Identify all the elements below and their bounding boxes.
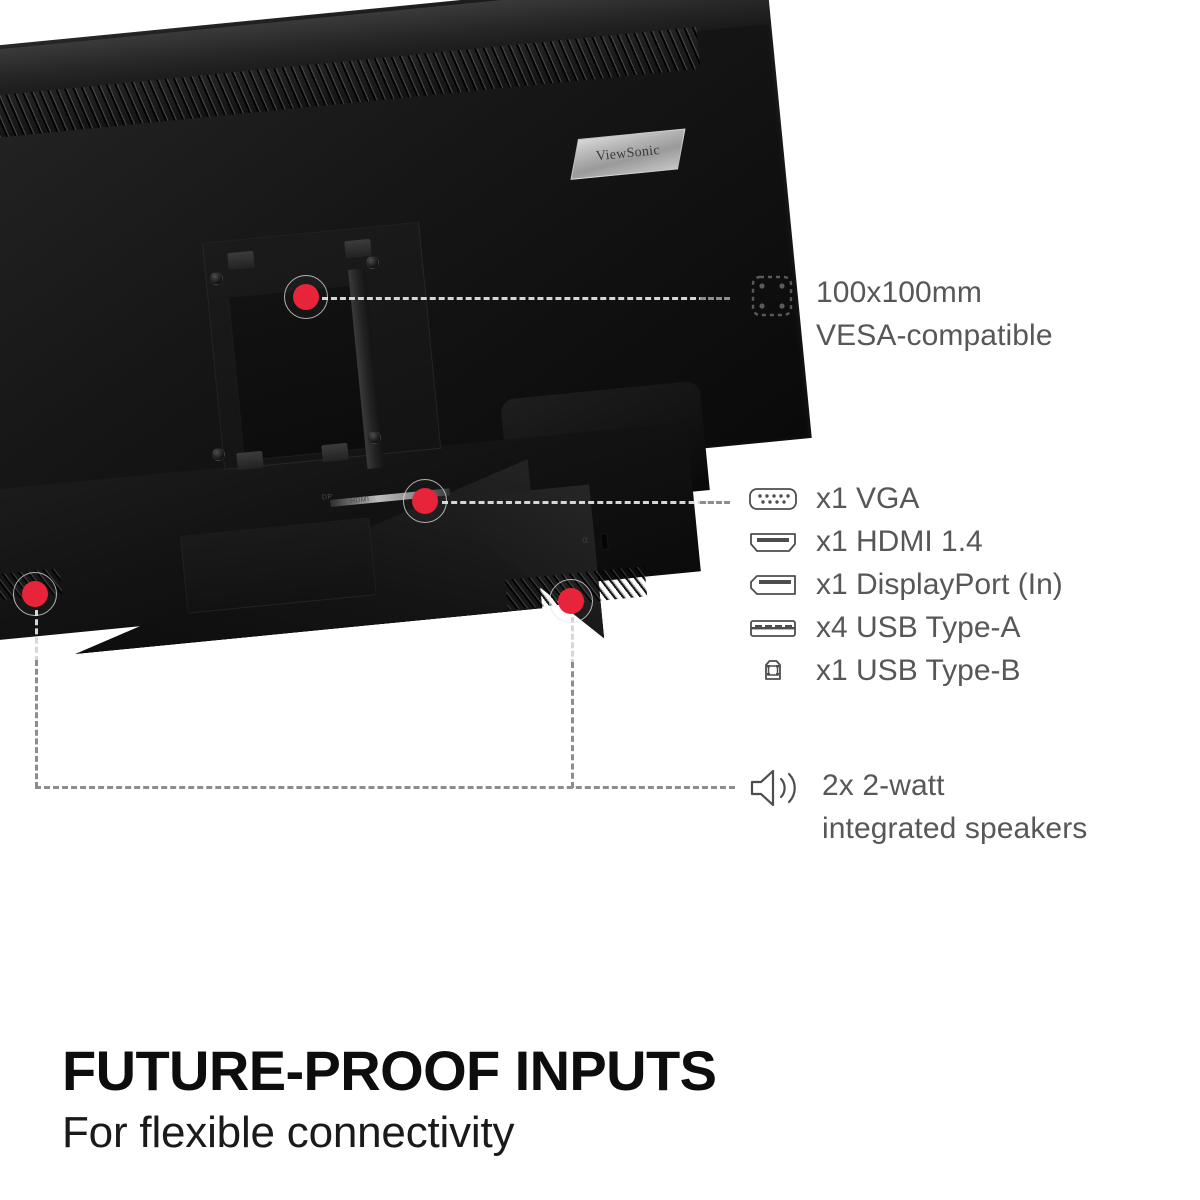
ports-list: x1 VGA x1 HDMI 1.4 x1 DisplayPort (In)	[748, 477, 1063, 692]
leader-line-ports-dark	[442, 501, 722, 504]
leader-line-speaker-right-light	[571, 662, 574, 788]
callout-dot-speaker-right[interactable]	[558, 588, 584, 614]
callout-dot-ports[interactable]	[412, 488, 438, 514]
vesa-tab-top-left	[227, 251, 255, 270]
brand-label: ViewSonic	[595, 143, 660, 165]
vesa-screw-bottom-left	[212, 448, 225, 461]
port-etch-dp: DP	[322, 494, 333, 502]
callout-dot-vesa[interactable]	[293, 284, 319, 310]
callout-speakers-text: 2x 2-watt integrated speakers	[822, 765, 1087, 850]
leader-line-speaker-left-dark	[35, 610, 38, 662]
hdmi-port-icon	[748, 527, 798, 557]
vesa-screw-bottom-right	[368, 431, 381, 444]
leader-line-speaker-left-light	[35, 660, 38, 788]
callout-vesa-text: 100x100mm VESA-compatible	[816, 272, 1053, 357]
vesa-tab-top-right	[344, 239, 372, 258]
port-label-usb-a: x4 USB Type-A	[816, 613, 1021, 643]
port-row-hdmi: x1 HDMI 1.4	[748, 520, 1063, 563]
leader-line-speaker-horizontal	[35, 786, 735, 789]
leader-line-ports-light	[700, 501, 730, 504]
port-row-vga: x1 VGA	[748, 477, 1063, 520]
page-subtitle: For flexible connectivity	[62, 1108, 514, 1158]
vesa-tab-bottom-right	[321, 443, 349, 462]
vesa-screw-top-left	[210, 272, 223, 285]
port-row-usb-b: x1 USB Type-B	[748, 649, 1063, 692]
leader-line-vesa-light	[700, 297, 730, 300]
port-row-usb-a: x4 USB Type-A	[748, 606, 1063, 649]
kensington-lock-icon: ⍺	[581, 535, 589, 547]
vesa-screw-top-right	[366, 256, 379, 269]
port-label-displayport: x1 DisplayPort (In)	[816, 570, 1063, 600]
callout-dot-speaker-left[interactable]	[22, 581, 48, 607]
callout-vesa: 100x100mm VESA-compatible	[748, 272, 1053, 357]
monitor-rear-photo: ViewSonic DP HDMI ⍺	[0, 0, 760, 680]
port-row-displayport: x1 DisplayPort (In)	[748, 563, 1063, 606]
infographic-canvas: ViewSonic DP HDMI ⍺	[0, 0, 1200, 1200]
vesa-tab-bottom-left	[236, 451, 264, 470]
displayport-icon	[748, 570, 798, 600]
callout-speakers: 2x 2-watt integrated speakers	[748, 765, 1087, 850]
leader-line-speaker-right-dark	[571, 617, 574, 665]
usb-type-b-port-icon	[748, 656, 798, 686]
usb-type-a-port-icon	[748, 613, 798, 643]
port-label-hdmi: x1 HDMI 1.4	[816, 527, 983, 557]
speaker-icon	[748, 765, 802, 811]
port-label-vga: x1 VGA	[816, 484, 919, 514]
vga-port-icon	[748, 484, 798, 514]
page-title: FUTURE-PROOF INPUTS	[62, 1038, 716, 1103]
vesa-mount-icon	[748, 272, 796, 320]
leader-line-vesa-dark	[322, 297, 714, 300]
port-label-usb-b: x1 USB Type-B	[816, 656, 1021, 686]
